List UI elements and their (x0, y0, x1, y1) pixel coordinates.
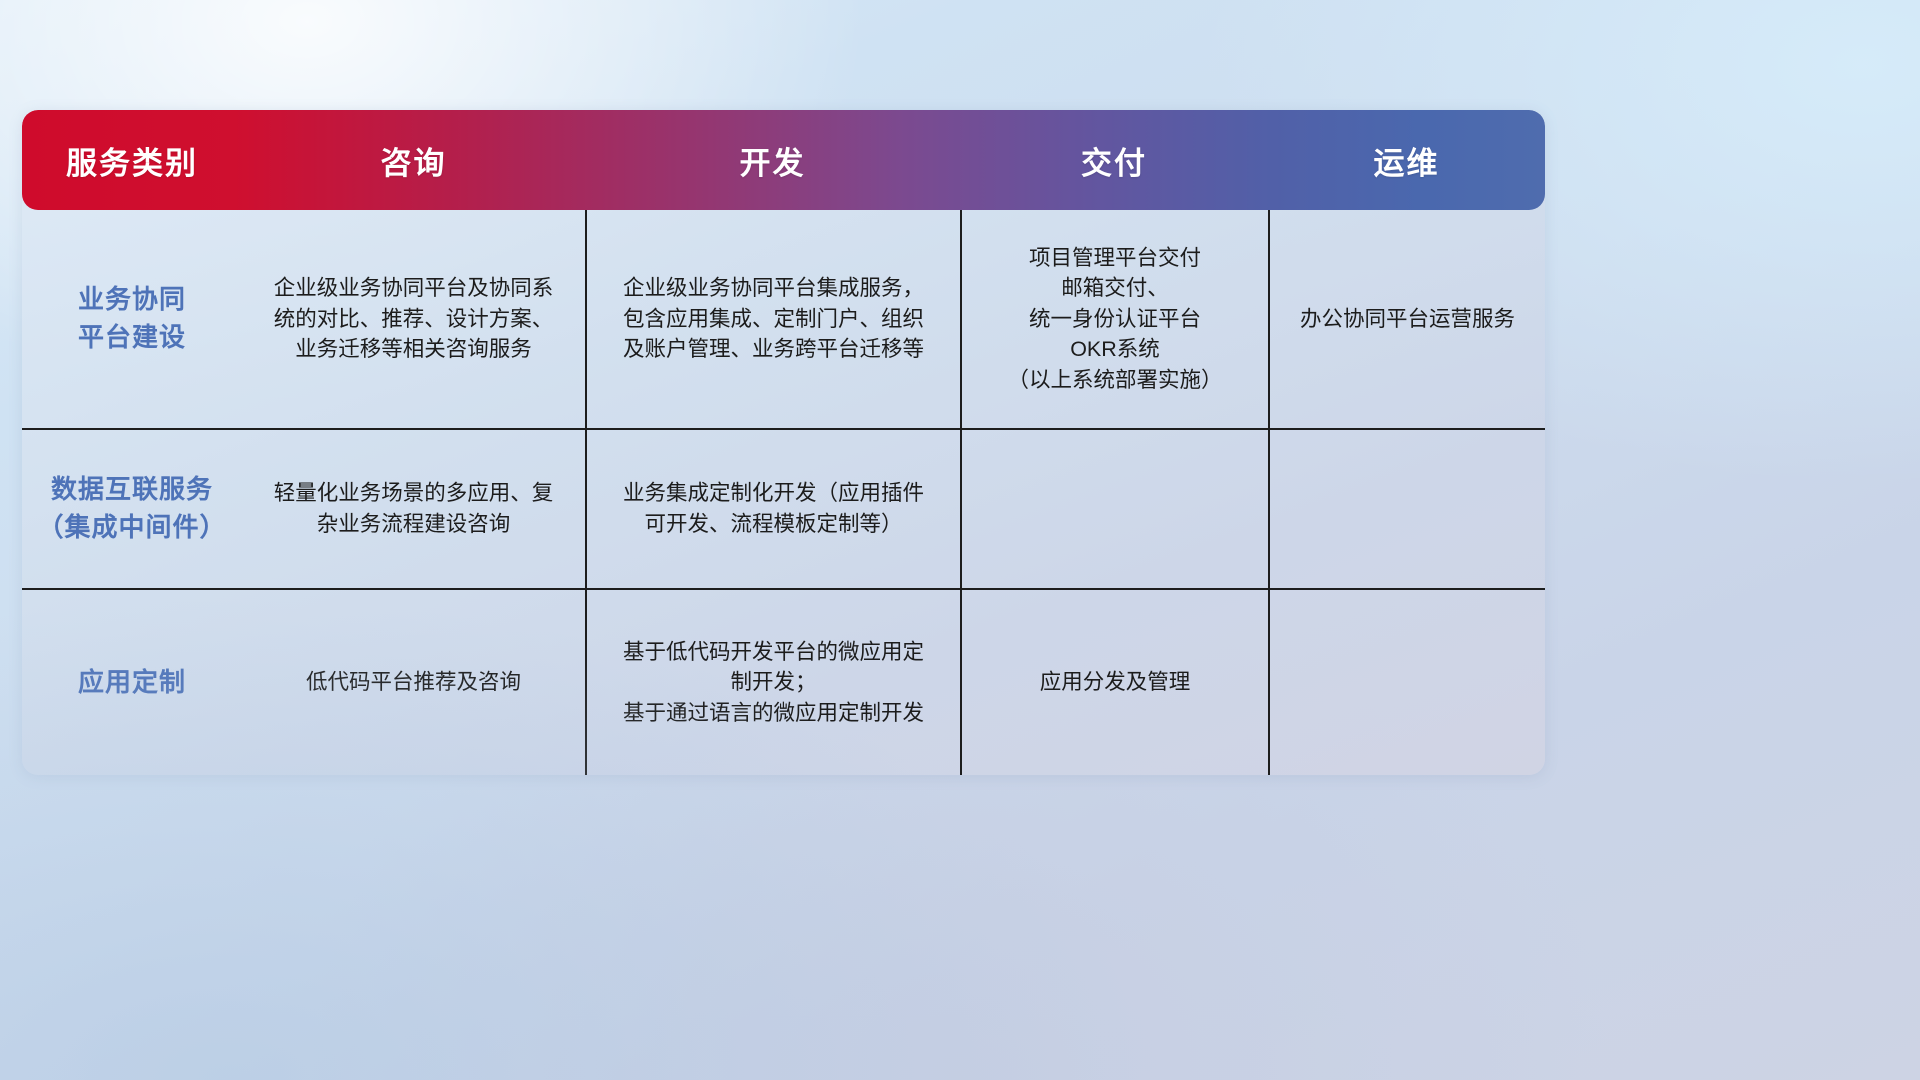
cell-delivery-row2 (960, 430, 1268, 588)
column-header-category: 服务类别 (22, 110, 242, 210)
cell-development-row1: 企业级业务协同平台集成服务， 包含应用集成、定制门户、组织 及账户管理、业务跨平… (585, 210, 960, 428)
column-header-operations: 运维 (1268, 110, 1545, 210)
cell-development-row2: 业务集成定制化开发（应用插件 可开发、流程模板定制等） (585, 430, 960, 588)
column-header-development: 开发 (585, 110, 960, 210)
table-row: 数据互联服务 （集成中间件） 轻量化业务场景的多应用、复 杂业务流程建设咨询 业… (22, 430, 1545, 590)
row-label-data-integration: 数据互联服务 （集成中间件） (22, 430, 242, 588)
cell-operations-row3 (1268, 590, 1545, 775)
table-row: 业务协同 平台建设 企业级业务协同平台及协同系 统的对比、推荐、设计方案、 业务… (22, 210, 1545, 430)
table-row: 应用定制 低代码平台推荐及咨询 基于低代码开发平台的微应用定 制开发； 基于通过… (22, 590, 1545, 775)
table-header-row: 服务类别 咨询 开发 交付 运维 (22, 110, 1545, 210)
table-body: 业务协同 平台建设 企业级业务协同平台及协同系 统的对比、推荐、设计方案、 业务… (22, 210, 1545, 775)
cell-consulting-row3: 低代码平台推荐及咨询 (242, 590, 585, 775)
cell-operations-row1: 办公协同平台运营服务 (1268, 210, 1545, 428)
cell-consulting-row1: 企业级业务协同平台及协同系 统的对比、推荐、设计方案、 业务迁移等相关咨询服务 (242, 210, 585, 428)
slide-canvas: 服务类别 咨询 开发 交付 运维 业务协同 平台建设 企业级业务协同平台及协同系… (0, 0, 1920, 1080)
service-matrix-table: 服务类别 咨询 开发 交付 运维 业务协同 平台建设 企业级业务协同平台及协同系… (22, 110, 1545, 775)
cell-delivery-row3: 应用分发及管理 (960, 590, 1268, 775)
cell-development-row3: 基于低代码开发平台的微应用定 制开发； 基于通过语言的微应用定制开发 (585, 590, 960, 775)
cell-consulting-row2: 轻量化业务场景的多应用、复 杂业务流程建设咨询 (242, 430, 585, 588)
cell-operations-row2 (1268, 430, 1545, 588)
cell-delivery-row1: 项目管理平台交付 邮箱交付、 统一身份认证平台 OKR系统 （以上系统部署实施） (960, 210, 1268, 428)
row-label-app-customization: 应用定制 (22, 590, 242, 775)
column-header-consulting: 咨询 (242, 110, 585, 210)
row-label-business-collaboration: 业务协同 平台建设 (22, 210, 242, 428)
column-header-delivery: 交付 (960, 110, 1268, 210)
